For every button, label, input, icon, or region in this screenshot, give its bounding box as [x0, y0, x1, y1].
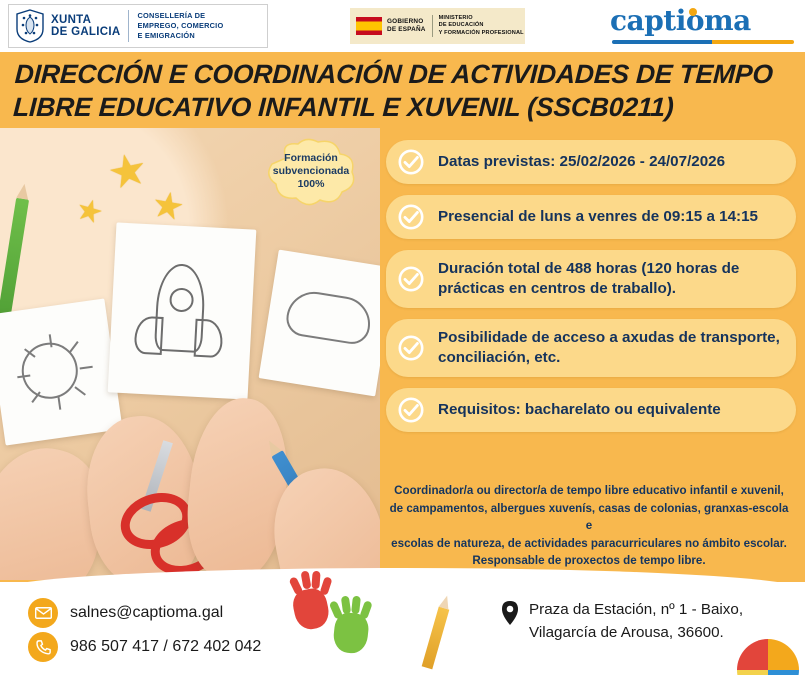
contact-phone-text: 986 507 417 / 672 402 042: [70, 638, 261, 656]
cloud-drawing: [284, 288, 374, 347]
list-item-label: Posibilidade de acceso a axudas de trans…: [438, 328, 784, 368]
gobierno-de-espana-logo: GOBIERNO DE ESPAÑA MINISTERIO DE EDUCACI…: [350, 8, 525, 44]
subsidized-badge-text: Formación subvencionada 100%: [262, 152, 360, 191]
drawing-card-rocket: [108, 222, 257, 399]
job-description-line3: escolas de natureza, de actividades para…: [386, 535, 792, 553]
xunta-de-galicia-logo: XUNTA DE GALICIA CONSELLERÍA DE EMPREGO,…: [8, 4, 268, 48]
badge-line3: 100%: [262, 178, 360, 191]
page-title-line2: LIBRE EDUCATIVO INFANTIL E XUVENIL (SSCB…: [12, 91, 794, 124]
badge-line1: Formación: [262, 152, 360, 165]
check-circle-icon: [398, 266, 424, 292]
xunta-dept-line3: E EMIGRACIÓN: [137, 31, 223, 41]
location-pin-icon: [500, 600, 520, 626]
contact-address: Praza da Estación, nº 1 - Baixo, Vilagar…: [500, 598, 743, 644]
ministerio-line2: DE EDUCACIÓN: [439, 22, 524, 30]
check-circle-icon: [398, 149, 424, 175]
xunta-dept-line1: CONSELLERÍA DE: [137, 11, 223, 21]
job-description: Coordinador/a ou director/a de tempo lib…: [386, 482, 792, 570]
drawing-card-sun: [0, 298, 123, 445]
xunta-logo-line2: DE GALICIA: [51, 26, 120, 38]
list-item-label: Duración total de 488 horas (120 horas d…: [438, 259, 784, 299]
job-description-line1: Coordinador/a ou director/a de tempo lib…: [386, 482, 792, 500]
ministerio-text: MINISTERIO DE EDUCACIÓN Y FORMACIÓN PROF…: [439, 15, 524, 38]
captioma-logo-dot-icon: [689, 8, 697, 16]
page-title: DIRECCIÓN E COORDINACIÓN DE ACTIVIDADES …: [12, 58, 795, 124]
list-item-label: Requisitos: bacharelato ou equivalente: [438, 400, 721, 420]
contact-phone[interactable]: 986 507 417 / 672 402 042: [28, 632, 261, 662]
list-item: Posibilidade de acceso a axudas de trans…: [386, 319, 796, 377]
rocket-fin-left: [134, 316, 164, 355]
phone-glyph-icon: [35, 639, 52, 656]
list-item-label: Presencial de luns a venres de 09:15 a 1…: [438, 207, 758, 227]
colored-ball-decoration: [737, 639, 799, 675]
contact-email[interactable]: salnes@captioma.gal: [28, 598, 223, 628]
badge-line2: subvencionada: [262, 165, 360, 178]
job-description-line2: de campamentos, albergues xuvenís, casas…: [386, 500, 792, 535]
galicia-coat-of-arms-icon: [15, 9, 45, 43]
address-line1: Praza da Estación, nº 1 - Baixo,: [529, 598, 743, 621]
captioma-logo-text: captioma: [610, 6, 795, 36]
address-line2: Vilagarcía de Arousa, 36600.: [529, 621, 743, 644]
check-circle-icon: [398, 335, 424, 361]
job-description-line4: Responsable de proxectos de tempo libre.: [386, 552, 792, 570]
check-circle-icon: [398, 397, 424, 423]
list-item: Requisitos: bacharelato ou equivalente: [386, 388, 796, 432]
gobierno-line2: DE ESPAÑA: [387, 26, 426, 34]
list-item: Duración total de 488 horas (120 horas d…: [386, 250, 796, 308]
xunta-dept-line2: EMPREGO, COMERCIO: [137, 21, 223, 31]
list-item: Datas previstas: 25/02/2026 - 24/07/2026: [386, 140, 796, 184]
gobierno-logo-text: GOBIERNO DE ESPAÑA: [387, 18, 426, 34]
gobierno-line1: GOBIERNO: [387, 18, 426, 26]
header-bar: XUNTA DE GALICIA CONSELLERÍA DE EMPREGO,…: [0, 0, 805, 52]
email-icon: [28, 598, 58, 628]
spain-flag-icon: [356, 17, 382, 35]
phone-icon: [28, 632, 58, 662]
subsidized-badge: Formación subvencionada 100%: [262, 138, 360, 214]
rocket-fin-right: [194, 319, 224, 358]
gobierno-logo-divider: [432, 15, 433, 37]
list-item-label: Datas previstas: 25/02/2026 - 24/07/2026: [438, 152, 725, 172]
footer-contact-bar: salnes@captioma.gal 986 507 417 / 672 40…: [0, 582, 805, 675]
contact-email-text: salnes@captioma.gal: [70, 604, 223, 622]
page-title-line1: DIRECCIÓN E COORDINACIÓN DE ACTIVIDADES …: [14, 58, 796, 91]
contact-address-text: Praza da Estación, nº 1 - Baixo, Vilagar…: [529, 598, 743, 644]
poster: XUNTA DE GALICIA CONSELLERÍA DE EMPREGO,…: [0, 0, 805, 675]
captioma-logo-underline: [612, 40, 794, 44]
course-details-list: Datas previstas: 25/02/2026 - 24/07/2026…: [386, 140, 796, 443]
xunta-logo-text: XUNTA DE GALICIA: [51, 14, 120, 38]
list-item: Presencial de luns a venres de 09:15 a 1…: [386, 195, 796, 239]
ministerio-line3: Y FORMACIÓN PROFESIONAL: [439, 30, 524, 38]
envelope-glyph-icon: [35, 607, 52, 619]
xunta-department-text: CONSELLERÍA DE EMPREGO, COMERCIO E EMIGR…: [137, 11, 223, 41]
xunta-logo-divider: [128, 10, 129, 42]
check-circle-icon: [398, 204, 424, 230]
drawing-card-cloud: [259, 250, 380, 397]
xunta-logo-line1: XUNTA: [51, 14, 120, 26]
captioma-logo: captioma: [610, 6, 795, 46]
